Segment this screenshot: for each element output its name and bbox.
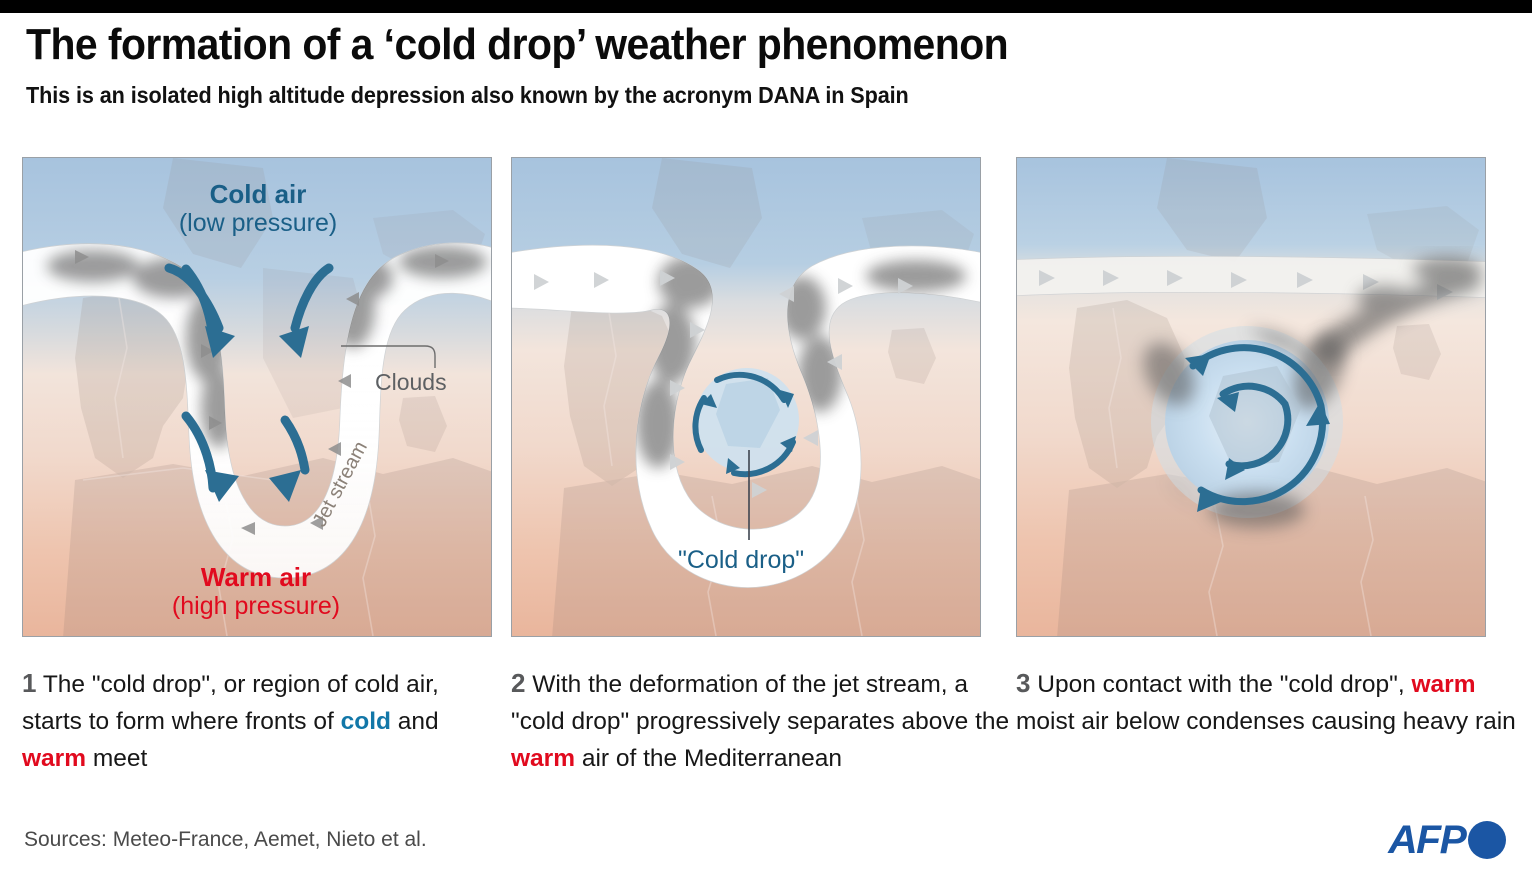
caption-1-text-b: and <box>391 708 439 735</box>
warm-air-line1: Warm air <box>111 563 401 592</box>
afp-logo: AFP <box>1389 818 1507 862</box>
clouds-label: Clouds <box>375 369 447 396</box>
cold-drop-label: "Cold drop" <box>678 546 804 575</box>
caption-1-text-c: meet <box>86 745 147 772</box>
captions-row: 1 The "cold drop", or region of cold air… <box>22 664 1512 794</box>
caption-3-number: 3 <box>1016 668 1030 698</box>
panel-stage-1: Cold air (low pressure) Warm air (high p… <box>22 157 492 637</box>
caption-step-1: 1 The "cold drop", or region of cold air… <box>22 664 452 777</box>
sources-text: Sources: Meteo-France, Aemet, Nieto et a… <box>24 828 427 852</box>
afp-logo-text: AFP <box>1388 818 1465 863</box>
caption-step-3: 3 Upon contact with the "cold drop", war… <box>1016 664 1516 741</box>
warm-air-label: Warm air (high pressure) <box>111 563 401 620</box>
header: The formation of a ‘cold drop’ weather p… <box>26 22 1506 109</box>
cold-air-line1: Cold air <box>113 180 403 209</box>
afp-logo-dot <box>1468 821 1506 859</box>
caption-2-text-a: With the deformation of the jet stream, … <box>511 671 1009 735</box>
cold-air-label: Cold air (low pressure) <box>113 180 403 237</box>
caption-2-number: 2 <box>511 668 525 698</box>
caption-3-text-a: Upon contact with the "cold drop", <box>1030 671 1411 698</box>
warm-air-line2: (high pressure) <box>111 592 401 620</box>
caption-1-warm-word: warm <box>22 745 86 772</box>
caption-1-cold-word: cold <box>341 708 391 735</box>
caption-step-2: 2 With the deformation of the jet stream… <box>511 664 1011 777</box>
cold-air-line2: (low pressure) <box>113 209 403 237</box>
caption-3-text-b: moist air below condenses causing heavy … <box>1016 708 1516 735</box>
panel-stage-2: "Cold drop" <box>511 157 981 637</box>
top-black-bar <box>0 0 1532 13</box>
illustration-panels: Cold air (low pressure) Warm air (high p… <box>22 157 1510 637</box>
page-subtitle: This is an isolated high altitude depres… <box>26 82 1417 109</box>
panel-stage-3 <box>1016 157 1486 637</box>
caption-2-text-b: air of the Mediterranean <box>575 745 842 772</box>
caption-3-warm-word: warm <box>1412 671 1476 698</box>
page-title: The formation of a ‘cold drop’ weather p… <box>26 22 1402 68</box>
caption-2-warm-word: warm <box>511 745 575 772</box>
caption-1-number: 1 <box>22 668 36 698</box>
panel-3-graphic <box>1017 158 1486 637</box>
